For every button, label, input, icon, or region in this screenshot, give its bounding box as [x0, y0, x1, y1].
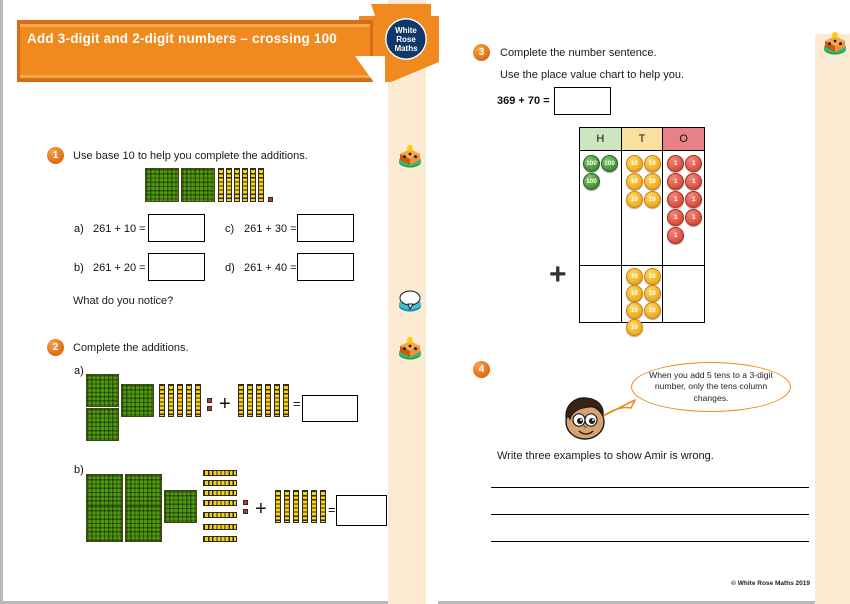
q1-part-b-expression: 261 + 20 =	[93, 262, 146, 274]
hundred-flat	[86, 505, 123, 542]
speech-bubble: When you add 5 tens to a 3-digit number,…	[631, 362, 791, 412]
ten-rod	[168, 384, 174, 417]
question-4-number: 4	[473, 361, 490, 378]
ten-counter: 10	[626, 268, 643, 285]
q1-part-b-answer-box[interactable]	[148, 253, 205, 281]
dice-icon	[397, 143, 423, 169]
q1-followup-text: What do you notice?	[73, 294, 173, 309]
q1-part-d-label: d)	[225, 262, 235, 274]
ten-rod	[258, 168, 264, 202]
q2-part-a-label: a)	[74, 365, 84, 377]
q1-part-a-expression: 261 + 10 =	[93, 223, 146, 235]
ten-rod	[203, 536, 237, 542]
question-4-task: Write three examples to show Amir is wro…	[497, 449, 714, 464]
question-3-number: 3	[473, 44, 490, 61]
ten-rod	[293, 490, 299, 523]
column-header-tens: T	[622, 128, 664, 150]
ten-rod	[203, 480, 237, 486]
ten-counter: 10	[644, 173, 661, 190]
center-white-gap	[426, 0, 438, 604]
ten-rod	[218, 168, 224, 202]
question-1-instruction: Use base 10 to help you complete the add…	[73, 149, 373, 164]
worksheet-page: Add 3-digit and 2-digit numbers – crossi…	[0, 0, 850, 604]
right-edge-strip	[815, 34, 850, 604]
one-counter: 1	[685, 209, 702, 226]
ten-counter: 10	[644, 302, 661, 319]
q1-part-b-label: b)	[74, 262, 84, 274]
logo-line-1: White	[395, 26, 417, 35]
one-unit	[268, 197, 273, 202]
q1-part-c-label: c)	[225, 223, 234, 235]
column-header-hundreds: H	[580, 128, 622, 150]
ten-counter: 10	[626, 191, 643, 208]
q1-part-d-answer-box[interactable]	[297, 253, 354, 281]
ten-rod	[274, 384, 280, 417]
one-unit	[243, 500, 248, 505]
ten-rod	[242, 168, 248, 202]
answer-line[interactable]	[491, 541, 809, 542]
question-3-instruction-2: Use the place value chart to help you.	[500, 68, 684, 83]
one-counter: 1	[667, 191, 684, 208]
one-counter: 1	[685, 191, 702, 208]
copyright-notice: © White Rose Maths 2019	[731, 580, 810, 587]
ten-rod	[186, 384, 192, 417]
q3-plus-symbol: +	[549, 258, 567, 292]
row1-tens-cell: 10 10 10 10 10 10	[622, 151, 664, 265]
ten-rod	[159, 384, 165, 417]
logo-line-2: Rose	[396, 35, 416, 44]
q2-part-b-operator: +	[255, 498, 267, 521]
ten-rod	[234, 168, 240, 202]
one-counter: 1	[667, 227, 684, 244]
row1-ones-cell: 1 1 1 1 1 1 1 1 1	[663, 151, 704, 265]
ten-counter: 10	[644, 191, 661, 208]
one-counter: 1	[685, 173, 702, 190]
ten-rod	[283, 384, 289, 417]
one-counter: 1	[667, 209, 684, 226]
hundred-flat	[181, 168, 215, 202]
q1-part-c-expression: 261 + 30 =	[244, 223, 297, 235]
hundred-flat	[125, 505, 162, 542]
q3-answer-box[interactable]	[554, 87, 611, 115]
logo-line-3: Maths	[394, 44, 417, 53]
one-counter: 1	[667, 173, 684, 190]
dice-icon	[822, 30, 848, 56]
place-value-chart-row-1: 100 100 100 10 10 10 10 10 10 1 1 1 1 1 …	[580, 151, 704, 266]
question-3-instruction: Complete the number sentence.	[500, 46, 657, 61]
row2-tens-cell: 10 10 10 10 10 10 10	[622, 266, 664, 323]
question-2-number: 2	[47, 339, 64, 356]
q2-part-b-equals: =	[328, 502, 336, 517]
hundred-counter: 100	[601, 155, 618, 172]
question-1-number: 1	[47, 147, 64, 164]
ten-rod	[311, 490, 317, 523]
q2-part-b-label: b)	[74, 464, 84, 476]
ten-counter: 10	[626, 173, 643, 190]
one-unit	[243, 509, 248, 514]
dice-icon	[397, 335, 423, 361]
ten-rod	[195, 384, 201, 417]
hundred-counter: 100	[583, 173, 600, 190]
ten-counter: 10	[644, 285, 661, 302]
q2-part-a-equals: =	[293, 396, 301, 411]
ten-rod	[247, 384, 253, 417]
hundred-counter: 100	[583, 155, 600, 172]
page-title: Add 3-digit and 2-digit numbers – crossi…	[27, 30, 357, 47]
ten-rod	[238, 384, 244, 417]
ten-rod	[177, 384, 183, 417]
place-value-chart-row-2: 10 10 10 10 10 10 10	[580, 266, 704, 323]
ten-counter: 10	[644, 268, 661, 285]
answer-line[interactable]	[491, 487, 809, 488]
avatar	[558, 392, 612, 442]
question-2-instruction: Complete the additions.	[73, 341, 189, 356]
one-counter: 1	[667, 155, 684, 172]
q1-part-d-expression: 261 + 40 =	[244, 262, 297, 274]
ten-counter: 10	[626, 285, 643, 302]
ten-rod	[203, 524, 237, 530]
ten-rod	[320, 490, 326, 523]
hundred-flat	[145, 168, 179, 202]
q1-part-c-answer-box[interactable]	[297, 214, 354, 242]
ten-rod	[265, 384, 271, 417]
q2-part-a-operator: +	[219, 393, 231, 416]
ten-rod	[275, 490, 281, 523]
q2-part-b-answer-box[interactable]	[336, 495, 387, 526]
row1-hundreds-cell: 100 100 100	[580, 151, 622, 265]
ten-rod	[256, 384, 262, 417]
ten-rod	[226, 168, 232, 202]
one-unit	[207, 398, 212, 403]
hundred-flat	[121, 384, 154, 417]
column-header-ones: O	[663, 128, 704, 150]
ten-rod	[203, 500, 237, 506]
ten-counter: 10	[626, 155, 643, 172]
hundred-flat	[86, 374, 119, 407]
ten-rod	[250, 168, 256, 202]
hundred-flat	[86, 408, 119, 441]
place-value-chart-header: H T O	[580, 128, 704, 151]
ten-rod	[302, 490, 308, 523]
answer-line[interactable]	[491, 514, 809, 515]
q1-part-a-label: a)	[74, 223, 84, 235]
white-rose-maths-logo: White Rose Maths	[385, 18, 427, 60]
q3-expression: 369 + 70 =	[497, 95, 550, 107]
one-counter: 1	[685, 155, 702, 172]
hundred-flat	[164, 490, 197, 523]
row2-ones-cell	[663, 266, 704, 323]
place-value-chart: H T O 100 100 100 10 10 10 10 10 10 1 1 …	[579, 127, 705, 323]
one-unit	[207, 406, 212, 411]
ten-counter: 10	[644, 155, 661, 172]
q2-part-a-answer-box[interactable]	[302, 395, 358, 422]
ten-rod	[203, 470, 237, 476]
ten-rod	[284, 490, 290, 523]
speech-bubble-icon	[397, 287, 423, 313]
ten-rod	[203, 512, 237, 518]
ten-counter: 10	[626, 319, 643, 336]
row2-hundreds-cell	[580, 266, 622, 323]
q1-part-a-answer-box[interactable]	[148, 214, 205, 242]
ten-rod	[203, 490, 237, 496]
ten-counter: 10	[626, 302, 643, 319]
speech-bubble-text: When you add 5 tens to a 3-digit number,…	[632, 370, 790, 405]
